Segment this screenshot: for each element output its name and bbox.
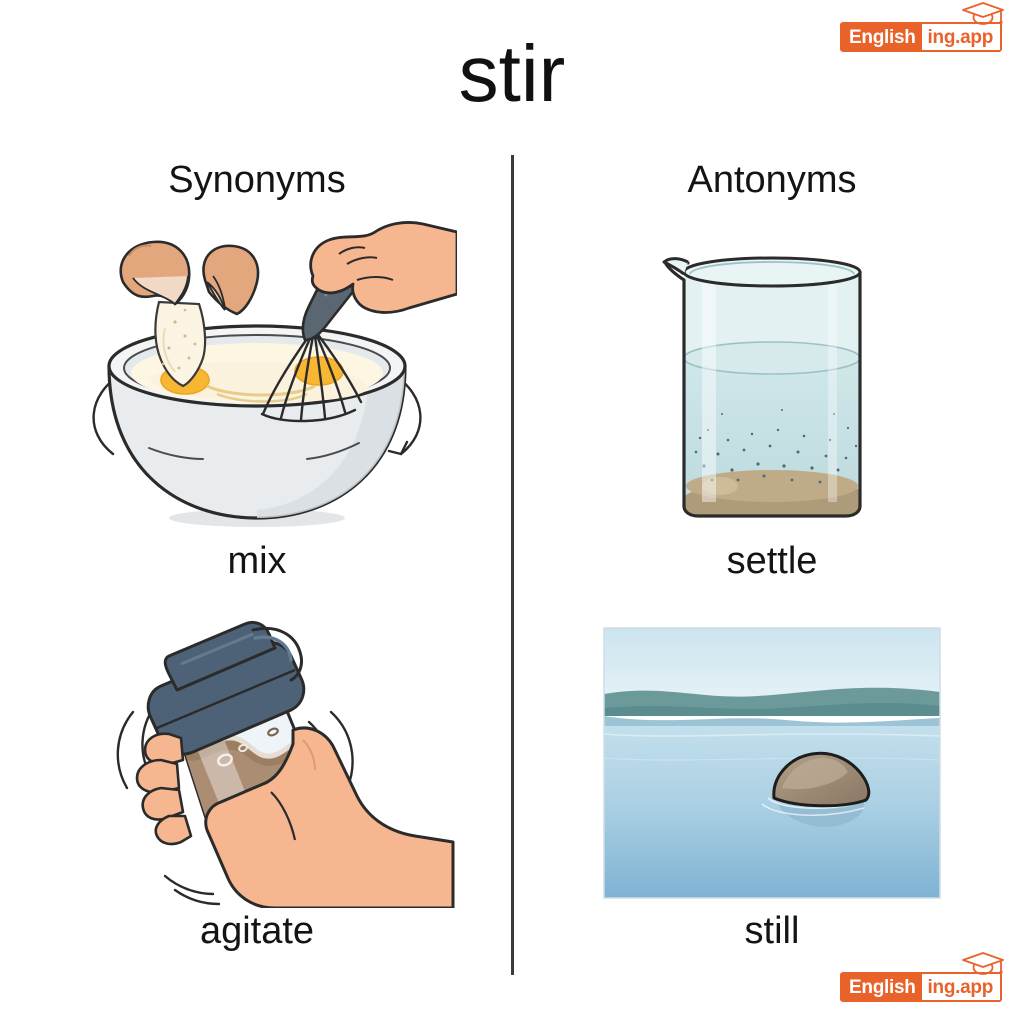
hand-shaking-shaker-bottle-illustration <box>47 608 467 908</box>
synonyms-heading: Synonyms <box>47 161 467 199</box>
calm-lake-rock-reflection-illustration <box>562 608 982 908</box>
entry-settle[interactable]: settle <box>562 218 982 580</box>
brand-name-left: English <box>842 974 922 1000</box>
entry-label-still: still <box>562 912 982 950</box>
entry-agitate[interactable]: agitate <box>47 608 467 950</box>
entry-mix[interactable]: mix <box>47 218 467 580</box>
brand-name-right: ing.app <box>922 974 1000 1000</box>
mixing-bowl-whisk-eggs-illustration <box>47 218 467 538</box>
brand-logo-bottom[interactable]: English ing.app <box>840 972 1002 1002</box>
column-divider <box>511 155 514 975</box>
antonyms-heading: Antonyms <box>562 161 982 199</box>
graduation-cap-icon <box>960 1 1006 27</box>
graduation-cap-icon <box>960 951 1006 977</box>
word-card: English ing.app English ing.app stir Syn… <box>0 0 1024 1024</box>
entry-label-mix: mix <box>47 542 467 580</box>
entry-label-settle: settle <box>562 542 982 580</box>
beaker-sediment-settling-illustration <box>562 218 982 538</box>
entry-still[interactable]: still <box>562 608 982 950</box>
page-title: stir <box>0 34 1024 114</box>
entry-label-agitate: agitate <box>47 912 467 950</box>
